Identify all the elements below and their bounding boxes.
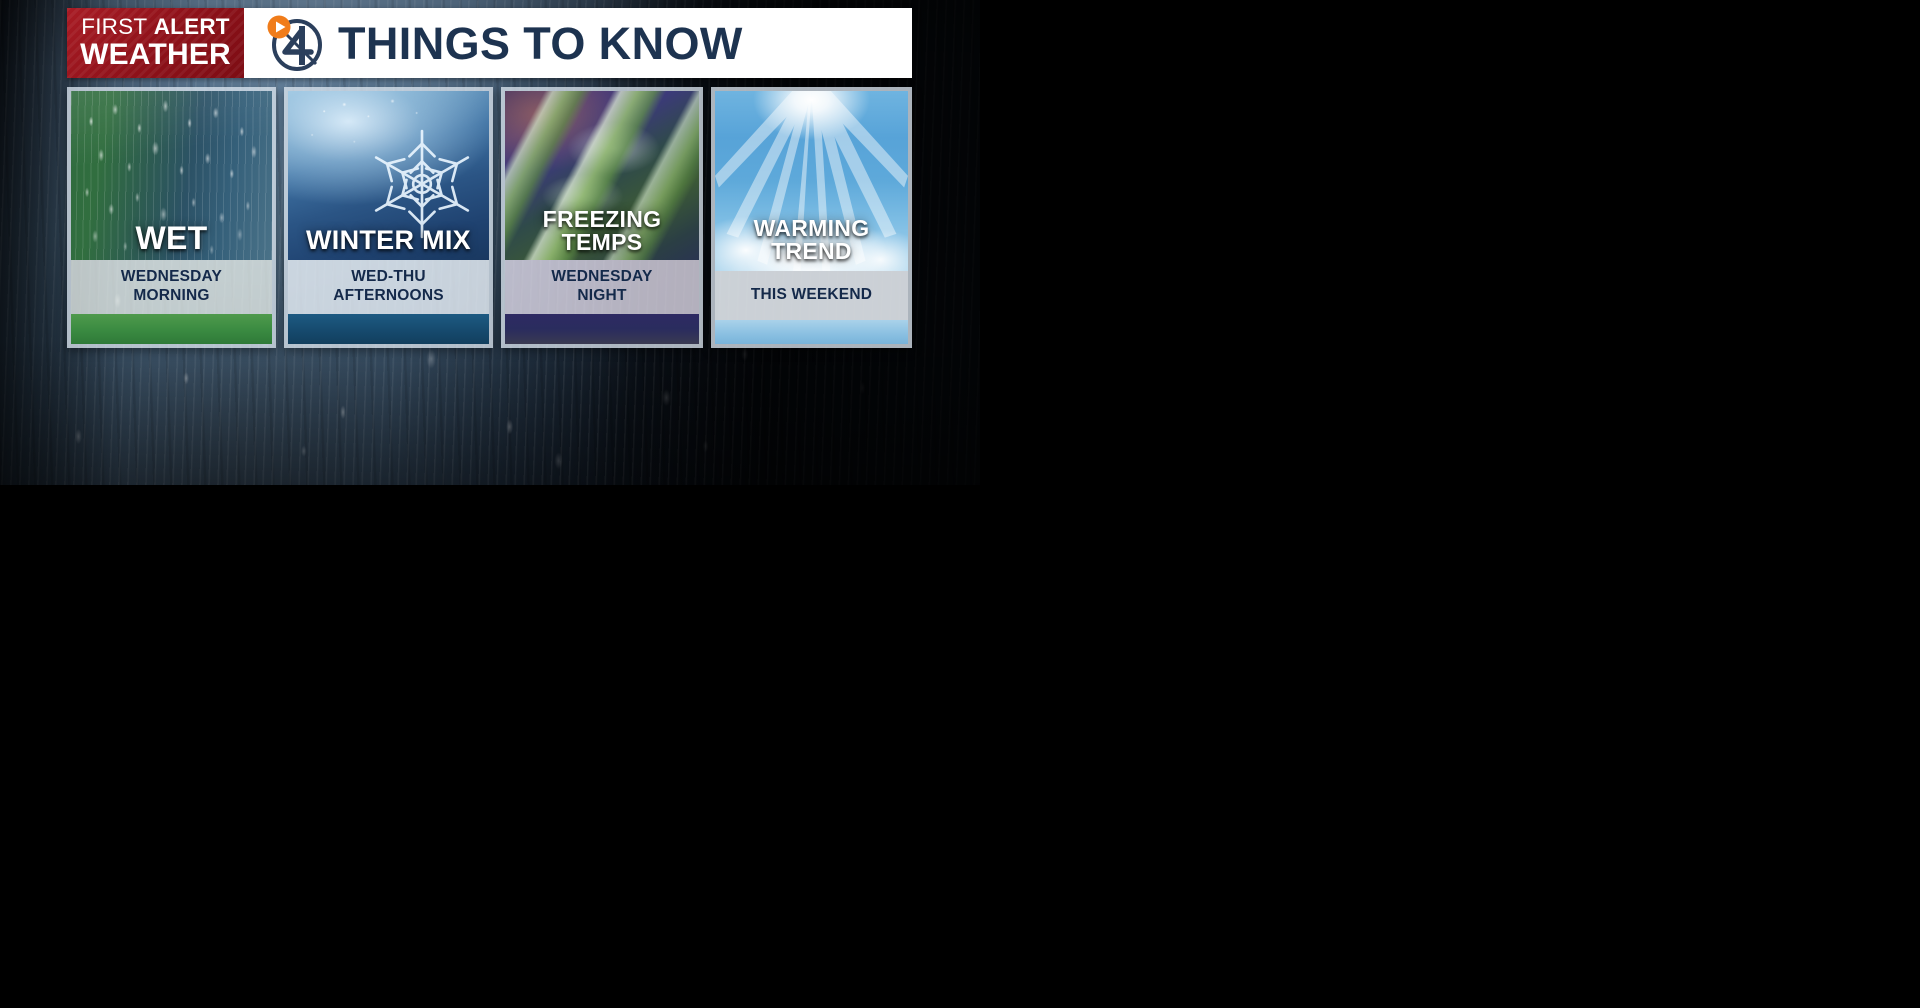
header-bar: FIRST ALERT WEATHER [67, 8, 912, 78]
card-freezing-temps-image: FREEZING TEMPS [505, 91, 699, 260]
card-freezing-temps-caption-line2: NIGHT [509, 287, 695, 305]
card-freezing-temps[interactable]: FREEZING TEMPS WEDNESDAY NIGHT [501, 87, 703, 348]
brand-word-first: FIRST [81, 14, 147, 39]
things-to-know-card-row: WET WEDNESDAY MORNING [67, 87, 912, 348]
card-warming-trend-caption-line1: THIS WEEKEND [719, 286, 904, 304]
card-wet-image: WET [71, 91, 272, 260]
card-wet[interactable]: WET WEDNESDAY MORNING [67, 87, 276, 348]
card-warming-trend-caption: THIS WEEKEND [715, 271, 908, 320]
wdiv-4-logo [266, 14, 324, 72]
card-winter-mix-title: WINTER MIX [288, 227, 489, 254]
brand-line-one: FIRST ALERT [81, 16, 229, 39]
play-button-icon [268, 16, 291, 39]
card-winter-mix-image: WINTER MIX [288, 91, 489, 260]
card-freezing-temps-accent-strip [505, 314, 699, 344]
card-wet-caption-line2: MORNING [75, 287, 268, 305]
card-winter-mix-accent-strip [288, 314, 489, 344]
card-wet-caption-line1: WEDNESDAY [75, 268, 268, 286]
header-title-area: THINGS TO KNOW [244, 8, 912, 78]
card-wet-accent-strip [71, 314, 272, 344]
brand-word-alert: ALERT [154, 14, 230, 39]
page-title: THINGS TO KNOW [338, 21, 743, 66]
card-wet-caption: WEDNESDAY MORNING [71, 260, 272, 314]
card-warming-trend[interactable]: WARMING TREND THIS WEEKEND [711, 87, 912, 348]
card-winter-mix-caption: WED-THU AFTERNOONS [288, 260, 489, 314]
card-winter-mix[interactable]: WINTER MIX WED-THU AFTERNOONS [284, 87, 493, 348]
brand-word-weather: WEATHER [80, 40, 231, 70]
card-freezing-temps-caption-line1: WEDNESDAY [509, 268, 695, 286]
card-warming-trend-title: WARMING TREND [715, 217, 908, 263]
first-alert-weather-badge: FIRST ALERT WEATHER [67, 8, 244, 78]
card-warming-trend-image: WARMING TREND [715, 91, 908, 271]
weather-graphic-stage: FIRST ALERT WEATHER [0, 0, 980, 485]
card-freezing-temps-title: FREEZING TEMPS [505, 208, 699, 254]
card-warming-trend-accent-strip [715, 320, 908, 344]
card-winter-mix-caption-line2: AFTERNOONS [292, 287, 485, 305]
card-winter-mix-caption-line1: WED-THU [292, 268, 485, 286]
card-freezing-temps-caption: WEDNESDAY NIGHT [505, 260, 699, 314]
card-wet-title: WET [71, 222, 272, 254]
